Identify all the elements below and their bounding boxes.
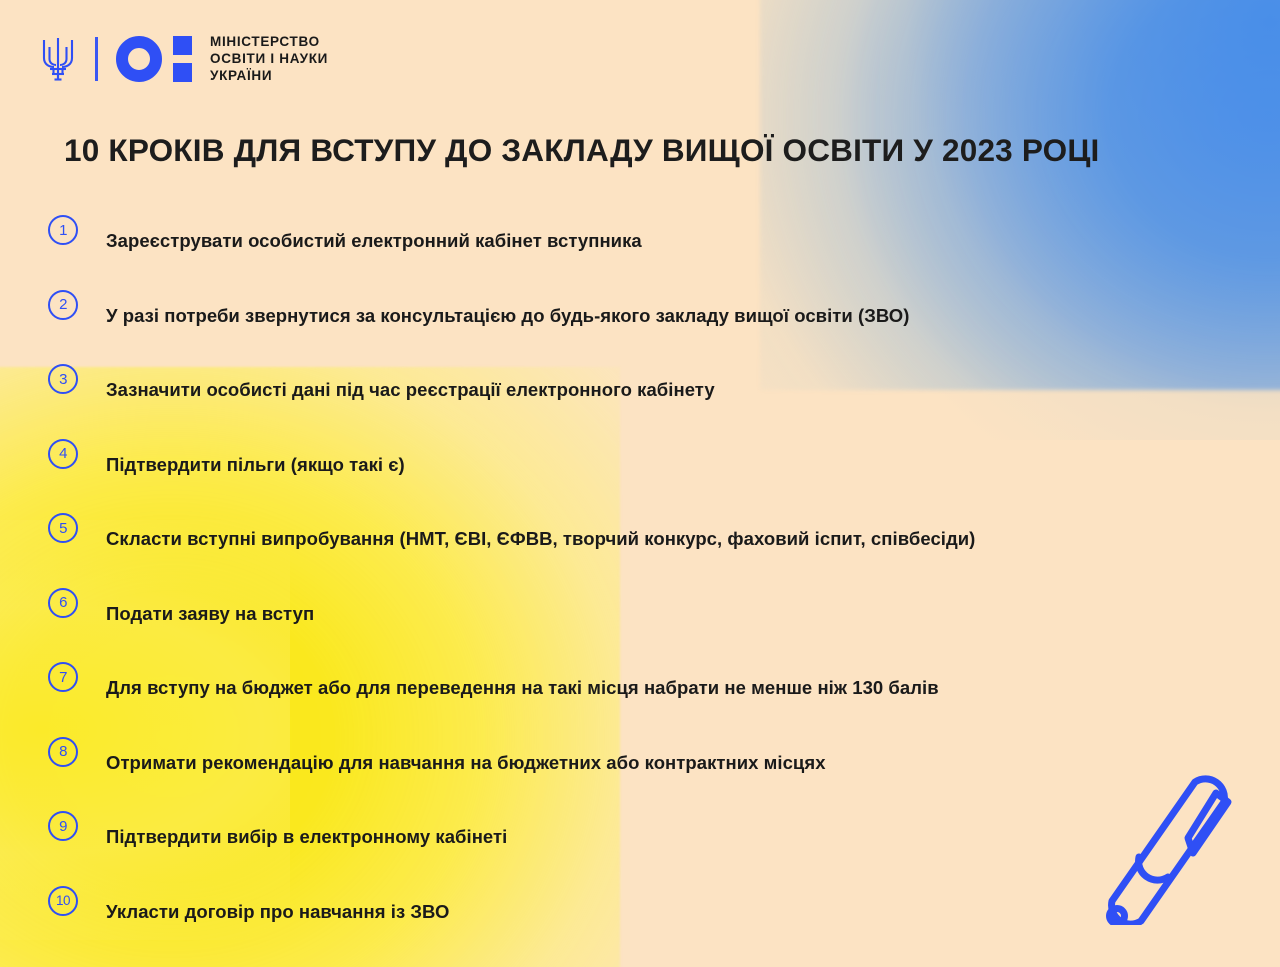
- step-number-badge: 1: [48, 215, 78, 245]
- mon-circle-colon-logo-icon: [116, 36, 192, 82]
- logo-ring-shape: [116, 36, 162, 82]
- list-item: 2 У разі потреби звернутися за консульта…: [48, 289, 1248, 343]
- step-number-badge: 5: [48, 513, 78, 543]
- brand-divider: [95, 37, 98, 81]
- step-text: Укласти договір про навчання із ЗВО: [106, 885, 449, 939]
- ukraine-trident-icon: [39, 34, 77, 84]
- step-text: У разі потреби звернутися за консультаці…: [106, 289, 909, 343]
- logo-colon-shape: [173, 36, 192, 82]
- logo-square-top: [173, 36, 192, 55]
- step-number-badge: 10: [48, 886, 78, 916]
- list-item: 1 Зареєструвати особистий електронний ка…: [48, 214, 1248, 268]
- steps-list: 1 Зареєструвати особистий електронний ка…: [48, 214, 1248, 959]
- brand-lockup: МІНІСТЕРСТВО ОСВІТИ І НАУКИ УКРАЇНИ: [39, 33, 328, 84]
- logo-square-bottom: [173, 63, 192, 82]
- list-item: 8 Отримати рекомендацію для навчання на …: [48, 736, 1248, 790]
- brand-line-3: УКРАЇНИ: [210, 67, 328, 84]
- step-number-badge: 9: [48, 811, 78, 841]
- pen-outline-icon: [1095, 735, 1245, 930]
- brand-text: МІНІСТЕРСТВО ОСВІТИ І НАУКИ УКРАЇНИ: [210, 33, 328, 84]
- list-item: 6 Подати заяву на вступ: [48, 587, 1248, 641]
- step-text: Подати заяву на вступ: [106, 587, 314, 641]
- step-text: Отримати рекомендацію для навчання на бю…: [106, 736, 826, 790]
- step-text: Для вступу на бюджет або для переведення…: [106, 661, 1216, 715]
- step-text: Зареєструвати особистий електронний кабі…: [106, 214, 642, 268]
- page-title: 10 КРОКІВ ДЛЯ ВСТУПУ ДО ЗАКЛАДУ ВИЩОЇ ОС…: [64, 131, 1234, 169]
- list-item: 9 Підтвердити вибір в електронному кабін…: [48, 810, 1248, 864]
- list-item: 3 Зазначити особисті дані під час реєстр…: [48, 363, 1248, 417]
- list-item: 4 Підтвердити пільги (якщо такі є): [48, 438, 1248, 492]
- step-number-badge: 8: [48, 737, 78, 767]
- step-number-badge: 2: [48, 290, 78, 320]
- step-text: Підтвердити вибір в електронному кабінет…: [106, 810, 507, 864]
- step-text: Підтвердити пільги (якщо такі є): [106, 438, 405, 492]
- brand-line-2: ОСВІТИ І НАУКИ: [210, 50, 328, 67]
- step-text: Скласти вступні випробування (НМТ, ЄВІ, …: [106, 512, 1216, 566]
- poster-canvas: МІНІСТЕРСТВО ОСВІТИ І НАУКИ УКРАЇНИ 10 К…: [0, 0, 1280, 967]
- step-number-badge: 6: [48, 588, 78, 618]
- list-item: 7 Для вступу на бюджет або для переведен…: [48, 661, 1248, 715]
- step-text: Зазначити особисті дані під час реєстрац…: [106, 363, 715, 417]
- list-item: 10 Укласти договір про навчання із ЗВО: [48, 885, 1248, 939]
- step-number-badge: 7: [48, 662, 78, 692]
- brand-line-1: МІНІСТЕРСТВО: [210, 33, 328, 50]
- step-number-badge: 4: [48, 439, 78, 469]
- list-item: 5 Скласти вступні випробування (НМТ, ЄВІ…: [48, 512, 1248, 566]
- step-number-badge: 3: [48, 364, 78, 394]
